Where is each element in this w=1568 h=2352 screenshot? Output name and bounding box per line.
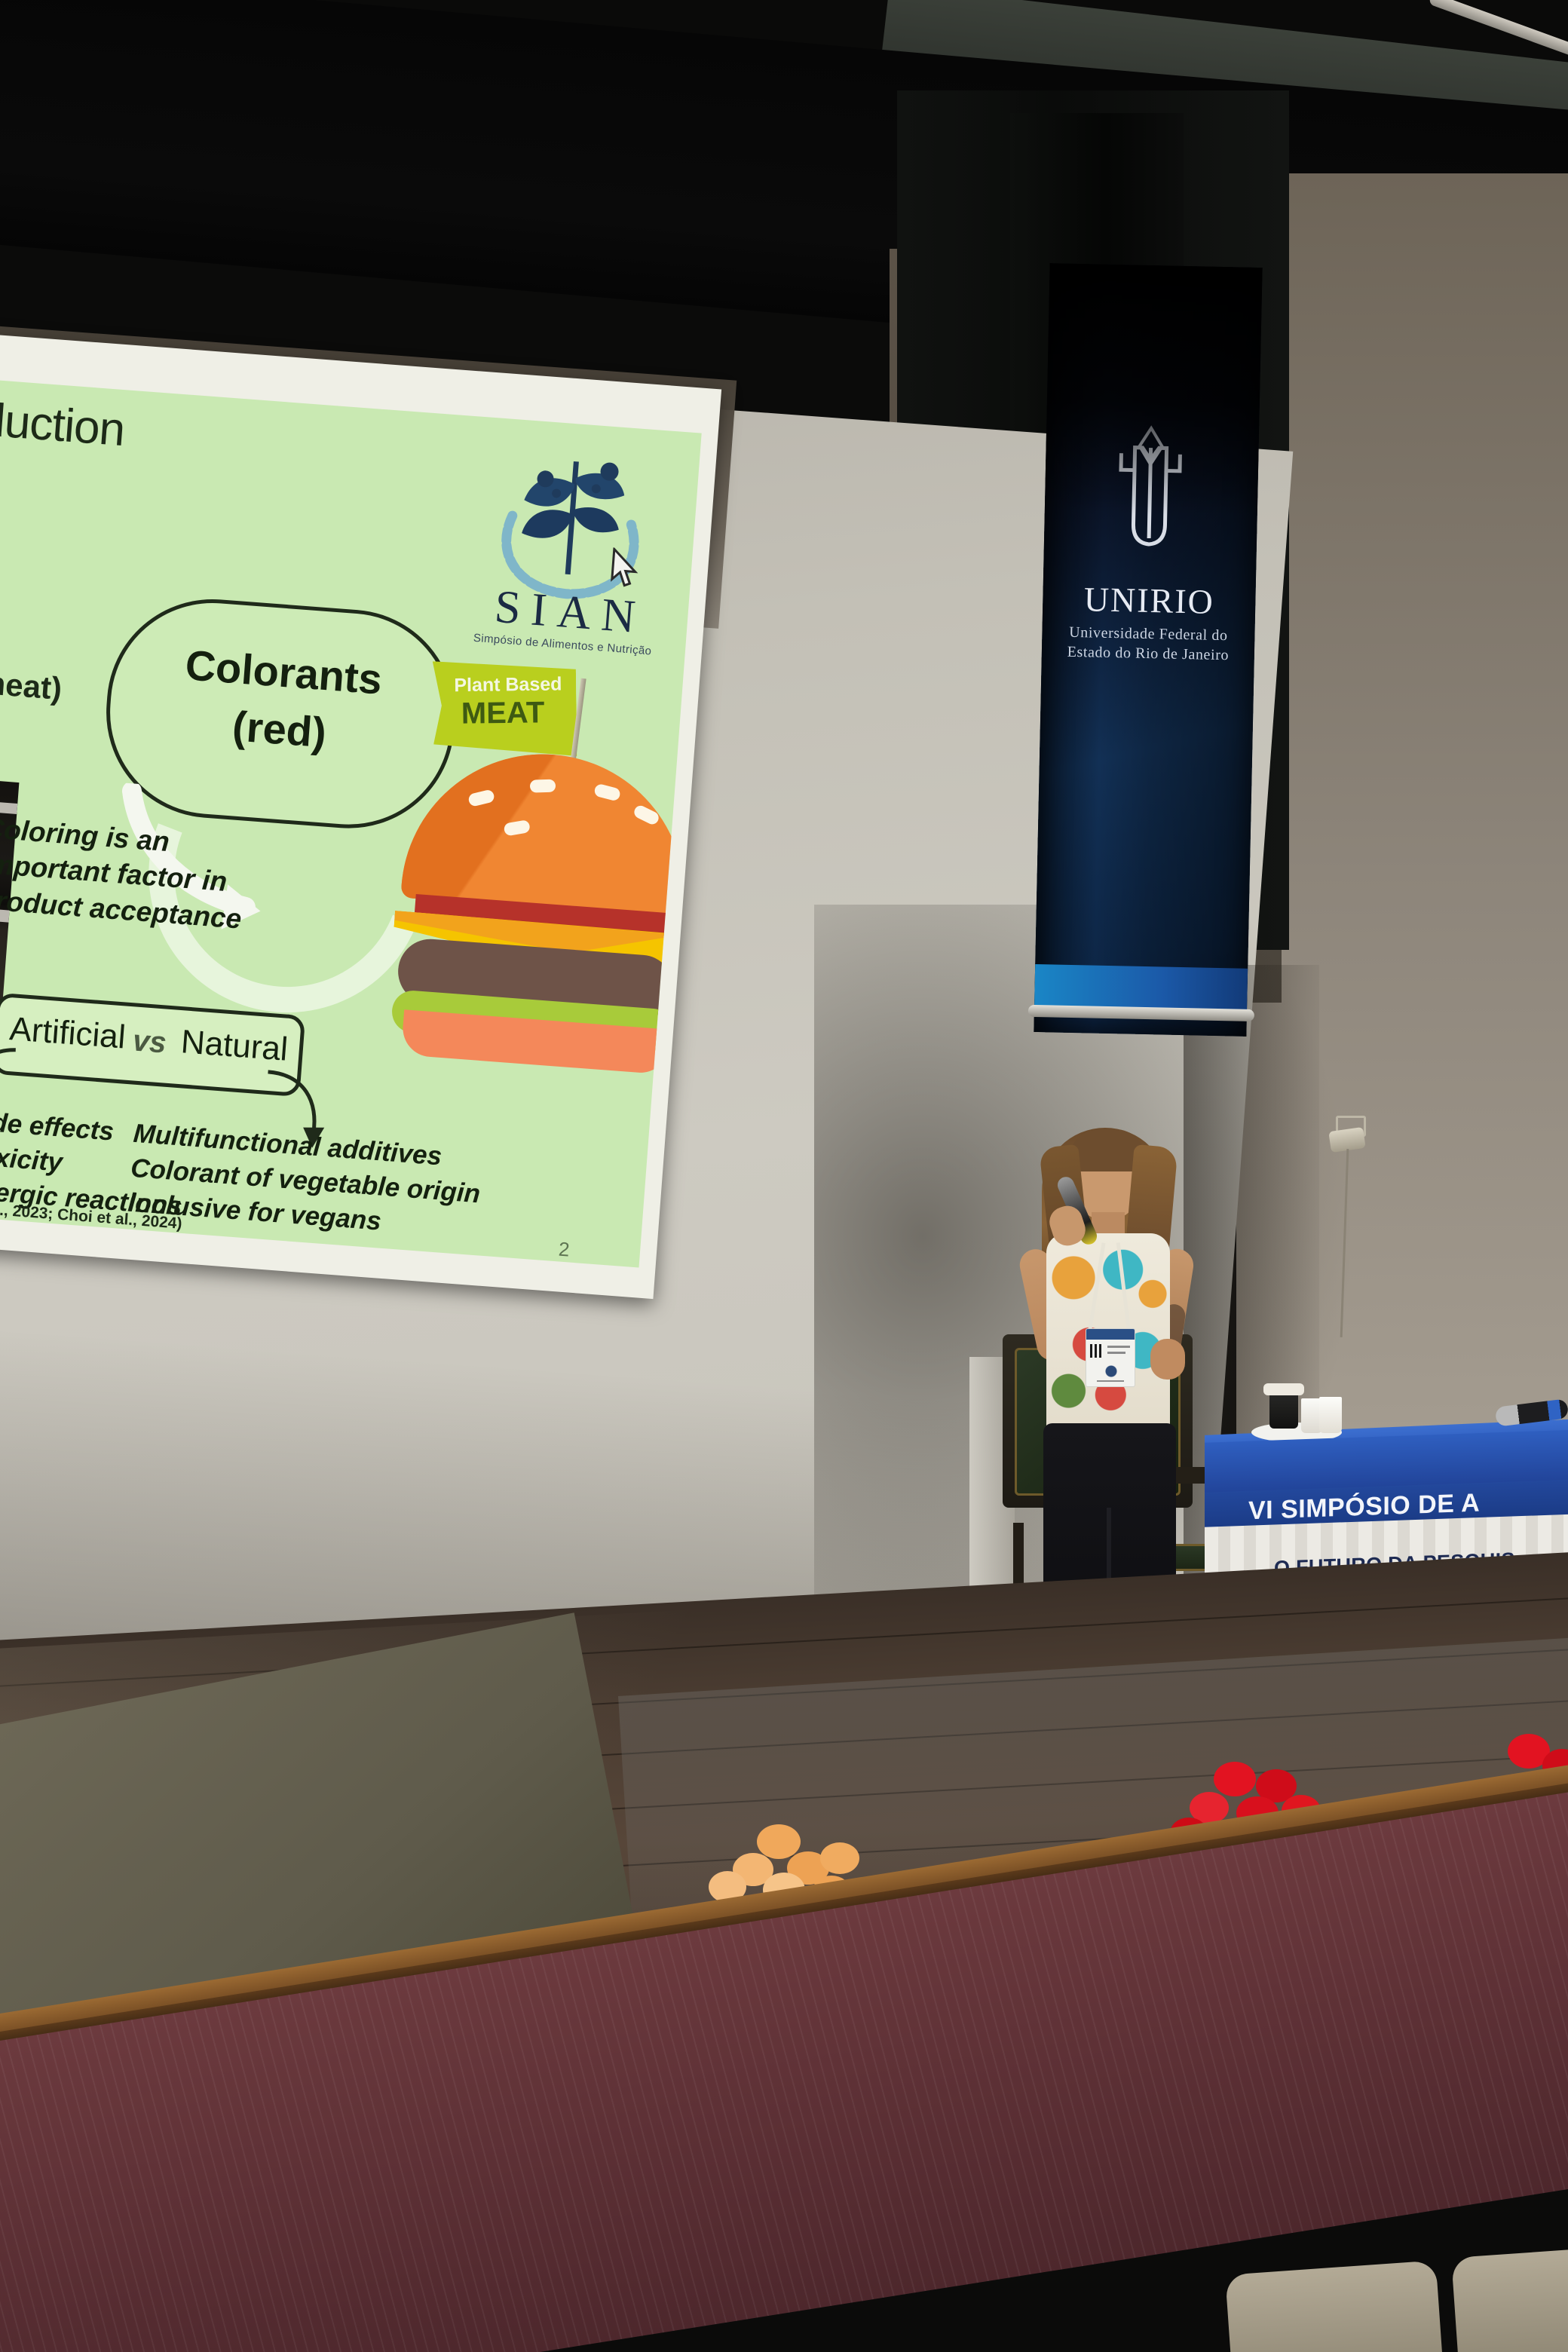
audience-chair-1 xyxy=(1225,2260,1444,2352)
slide-page-number: 2 xyxy=(558,1238,571,1262)
white-cup-2 xyxy=(1319,1397,1342,1433)
auditorium-scene: troduction based meat) ^38%) xyxy=(0,0,1568,2352)
flag-label-line2: MEAT xyxy=(439,696,568,731)
wall-cable-clip xyxy=(1327,1116,1372,1342)
hanging-cable xyxy=(1340,1149,1349,1337)
banner-university-name: UNIRIO xyxy=(1043,578,1256,623)
mouse-pointer-icon[interactable] xyxy=(608,547,643,590)
cup-doily xyxy=(1263,1383,1304,1395)
burger-illustration xyxy=(390,744,701,1052)
speaker-right-hand xyxy=(1150,1339,1185,1380)
coloring-note-text: Coloring is an important factor in produ… xyxy=(0,810,271,939)
presentation-slide: troduction based meat) ^38%) xyxy=(0,378,702,1268)
flag-label-line1: Plant Based xyxy=(444,673,572,697)
unirio-rollup-banner: UNIRIO Universidade Federal do Estado do… xyxy=(1034,263,1262,1037)
conference-badge xyxy=(1086,1328,1135,1387)
slide-left-fragment-1: based meat) xyxy=(0,657,63,707)
banner-top-shadow xyxy=(1045,263,1263,516)
versus-label: vs xyxy=(131,1024,167,1060)
projection-screen: troduction based meat) ^38%) xyxy=(0,332,721,1299)
audience-chair-2 xyxy=(1451,2244,1568,2352)
slide-title: troduction xyxy=(0,389,127,457)
natural-label: Natural xyxy=(179,1023,289,1068)
